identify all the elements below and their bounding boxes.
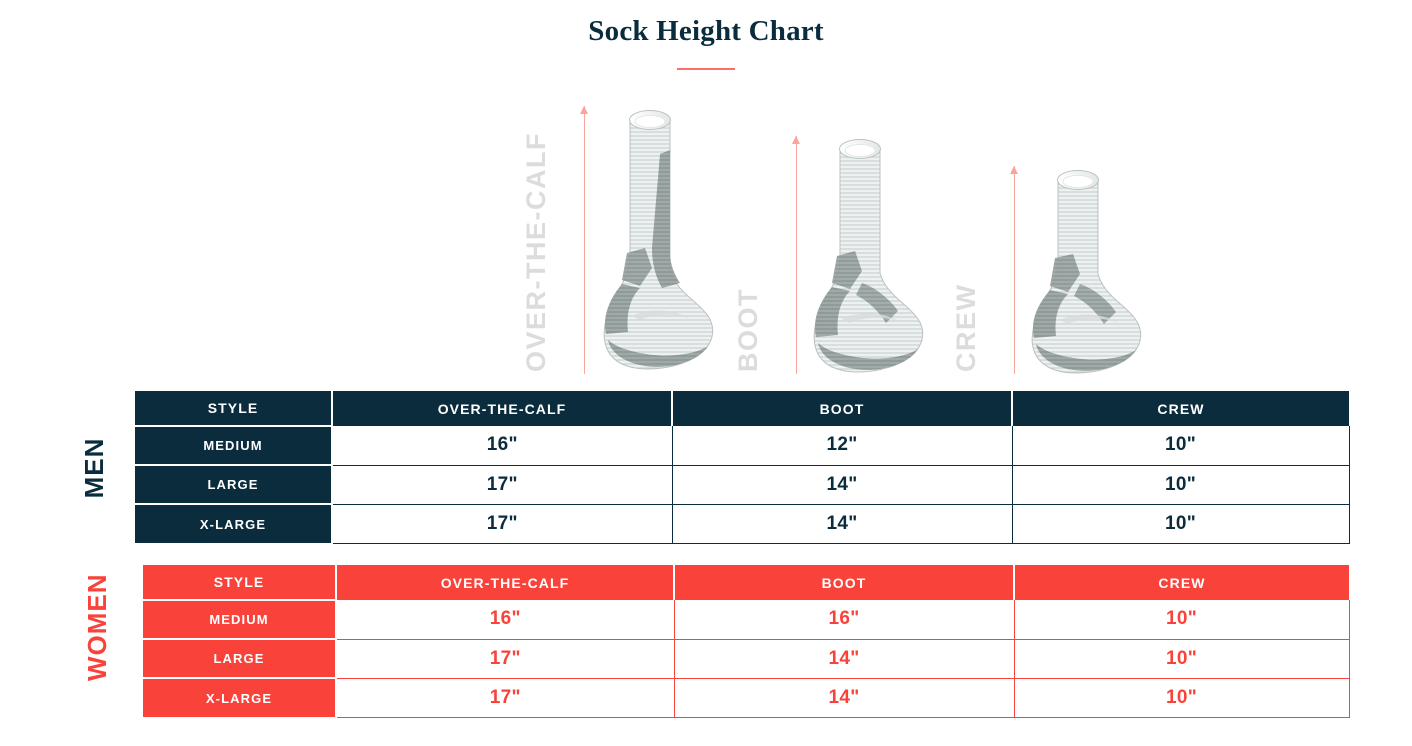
women-row-1-style: LARGE (143, 639, 336, 678)
arrow-head-icon (1010, 166, 1018, 174)
women-row-0-boot: 16" (674, 600, 1014, 639)
sock-illustration-band: OVER-THE-CALF (0, 92, 1412, 374)
height-arrow-boot (792, 136, 801, 374)
women-col-boot: BOOT (674, 565, 1014, 600)
men-col-over-the-calf: OVER-THE-CALF (332, 391, 672, 426)
men-row-1-style: LARGE (135, 465, 332, 504)
men-row-1-over-the-calf: 17" (332, 465, 672, 504)
arrow-shaft (796, 136, 797, 374)
sock-height-chart-page: Sock Height Chart OVER-THE-CALF (0, 0, 1412, 746)
men-row-2-boot: 14" (672, 504, 1012, 543)
men-row-1-boot: 14" (672, 465, 1012, 504)
men-row-0-over-the-calf: 16" (332, 426, 672, 465)
arrow-shaft (584, 106, 585, 374)
sock-boot-group: BOOT (740, 131, 935, 374)
women-row-1-crew: 10" (1014, 639, 1349, 678)
women-size-table: STYLE OVER-THE-CALF BOOT CREW MEDIUM 16"… (143, 565, 1350, 718)
men-row-0-boot: 12" (672, 426, 1012, 465)
table-row: LARGE 17" 14" 10" (143, 639, 1349, 678)
table-row: MEDIUM 16" 16" 10" (143, 600, 1349, 639)
women-row-2-over-the-calf: 17" (336, 678, 674, 717)
men-col-style: STYLE (135, 391, 332, 426)
women-size-table-wrap: STYLE OVER-THE-CALF BOOT CREW MEDIUM 16"… (143, 565, 1350, 718)
women-col-crew: CREW (1014, 565, 1349, 600)
table-row: MEDIUM 16" 12" 10" (135, 426, 1349, 465)
table-row: LARGE 17" 14" 10" (135, 465, 1349, 504)
women-section-label: WOMEN (84, 601, 110, 681)
women-table-header-row: STYLE OVER-THE-CALF BOOT CREW (143, 565, 1349, 600)
sock-crew-group: CREW (958, 162, 1153, 374)
men-row-0-style: MEDIUM (135, 426, 332, 465)
men-section-label: MEN (81, 436, 107, 500)
men-row-2-crew: 10" (1012, 504, 1349, 543)
men-size-table: STYLE OVER-THE-CALF BOOT CREW MEDIUM 16"… (135, 391, 1350, 544)
women-col-style: STYLE (143, 565, 336, 600)
women-row-2-boot: 14" (674, 678, 1014, 717)
height-arrow-over-the-calf (580, 106, 589, 374)
men-row-0-crew: 10" (1012, 426, 1349, 465)
sock-illustration-crew (1024, 162, 1156, 374)
women-row-0-style: MEDIUM (143, 600, 336, 639)
sock-over-the-calf-label: OVER-THE-CALF (523, 132, 550, 372)
height-arrow-crew (1010, 166, 1019, 374)
men-row-2-over-the-calf: 17" (332, 504, 672, 543)
page-title: Sock Height Chart (0, 14, 1412, 49)
sock-illustration-over-the-calf (596, 102, 728, 374)
men-row-2-style: X-LARGE (135, 504, 332, 543)
arrow-shaft (1014, 166, 1015, 374)
arrow-head-icon (580, 106, 588, 114)
women-row-1-over-the-calf: 17" (336, 639, 674, 678)
arrow-head-icon (792, 136, 800, 144)
men-col-crew: CREW (1012, 391, 1349, 426)
women-row-1-boot: 14" (674, 639, 1014, 678)
men-row-1-crew: 10" (1012, 465, 1349, 504)
men-col-boot: BOOT (672, 391, 1012, 426)
table-row: X-LARGE 17" 14" 10" (135, 504, 1349, 543)
women-row-0-over-the-calf: 16" (336, 600, 674, 639)
women-col-over-the-calf: OVER-THE-CALF (336, 565, 674, 600)
men-table-header-row: STYLE OVER-THE-CALF BOOT CREW (135, 391, 1349, 426)
table-row: X-LARGE 17" 14" 10" (143, 678, 1349, 717)
women-row-2-style: X-LARGE (143, 678, 336, 717)
sock-crew-label: CREW (953, 284, 980, 373)
sock-boot-label: BOOT (735, 288, 762, 372)
sock-illustration-boot (806, 131, 938, 374)
page-header: Sock Height Chart (0, 14, 1412, 70)
women-row-2-crew: 10" (1014, 678, 1349, 717)
men-size-table-wrap: STYLE OVER-THE-CALF BOOT CREW MEDIUM 16"… (135, 391, 1350, 544)
title-underline-rule (677, 68, 735, 70)
sock-over-the-calf-group: OVER-THE-CALF (528, 102, 728, 374)
women-row-0-crew: 10" (1014, 600, 1349, 639)
